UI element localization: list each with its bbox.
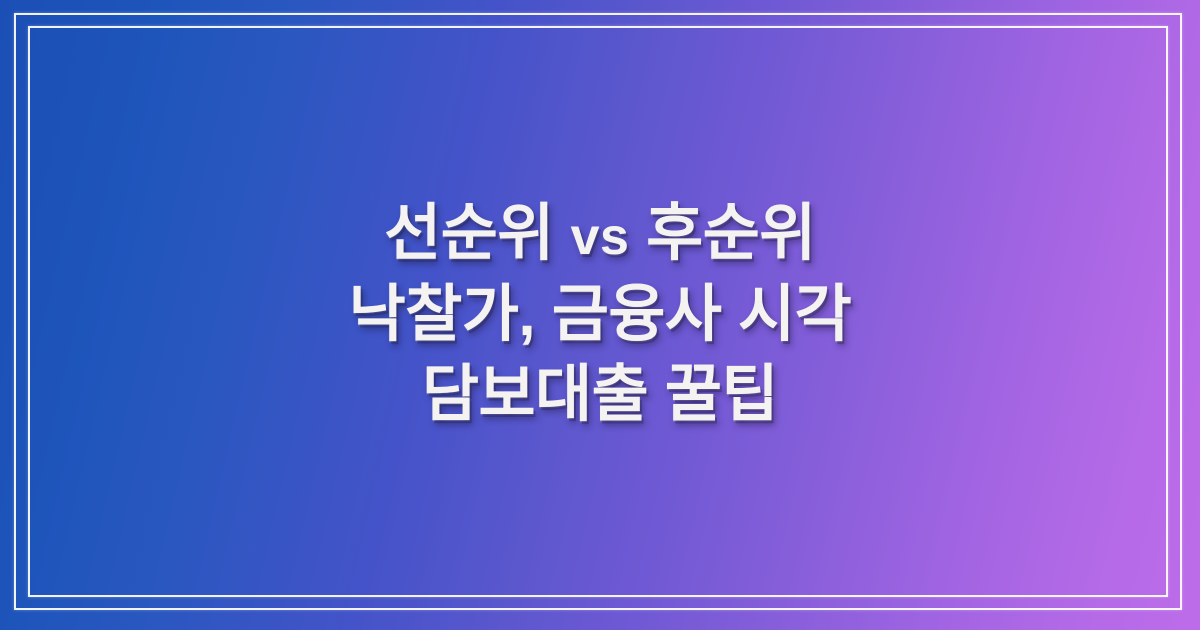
poster-canvas: 선순위 vs 후순위 낙찰가, 금융사 시각 담보대출 꿀팁	[0, 0, 1200, 630]
title-line-1: 선순위 vs 후순위	[349, 194, 852, 275]
title-line-1-left: 선순위	[384, 199, 554, 268]
title-line-1-right: 후순위	[646, 199, 816, 268]
title-line-3: 담보대출 꿀팁	[349, 355, 852, 436]
page-title: 선순위 vs 후순위 낙찰가, 금융사 시각 담보대출 꿀팁	[349, 194, 852, 436]
versus-separator: vs	[571, 208, 630, 266]
title-line-2: 낙찰가, 금융사 시각	[349, 275, 852, 356]
title-block: 선순위 vs 후순위 낙찰가, 금융사 시각 담보대출 꿀팁	[0, 0, 1200, 630]
